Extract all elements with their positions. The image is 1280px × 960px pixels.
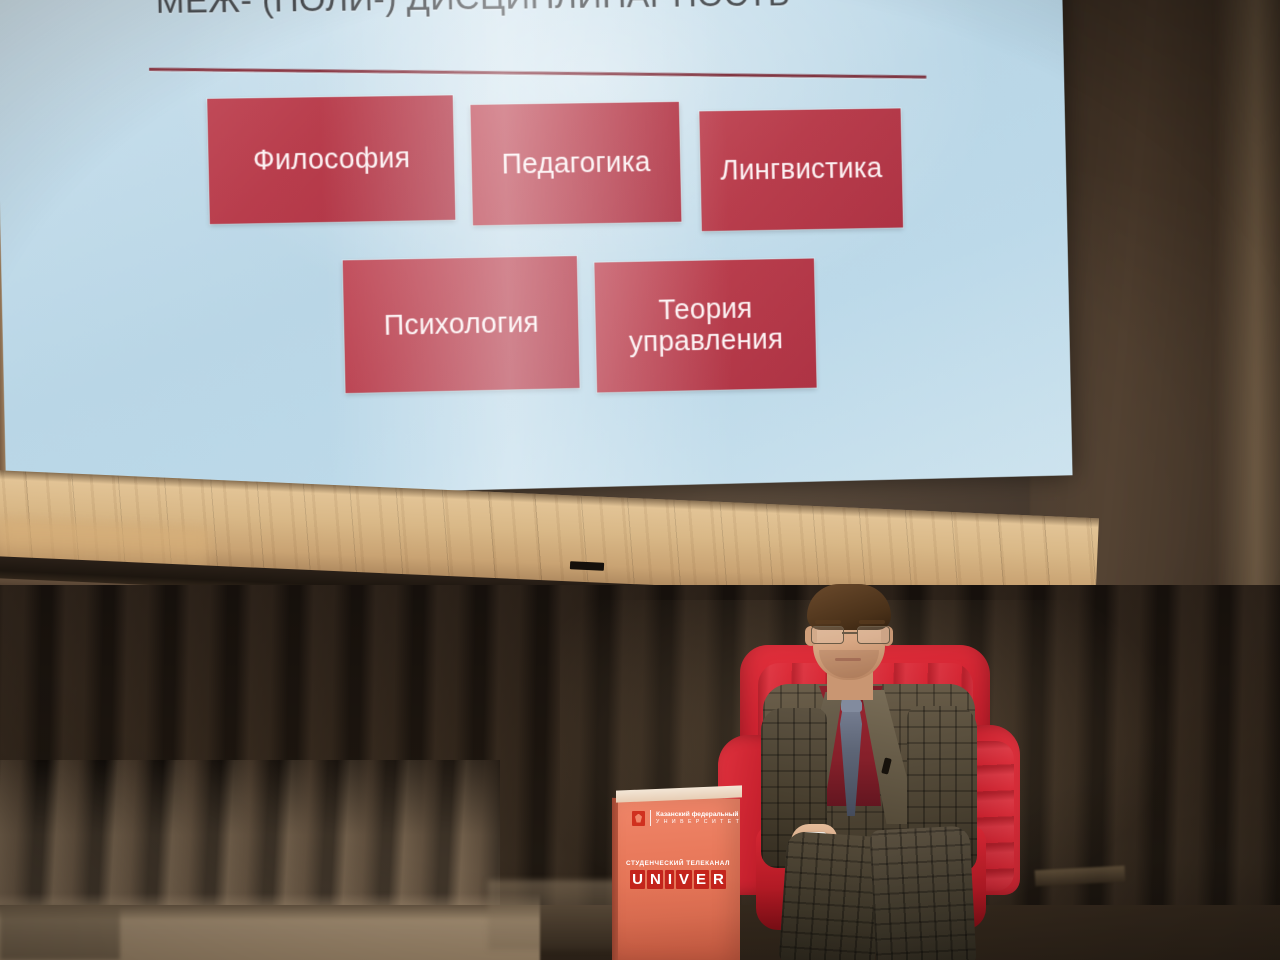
slide-box-linguistics: Лингвистика: [699, 108, 903, 231]
slide-box-psychology: Психология: [343, 256, 580, 393]
kfu-crest-icon: [632, 811, 645, 826]
univer-letter-4: E: [694, 870, 709, 889]
speaker-leg-right-pattern: [869, 825, 976, 960]
univer-tagline: СТУДЕНЧЕСКИЙ ТЕЛЕКАНАЛ: [626, 860, 730, 867]
univer-wordmark: UNIVER: [626, 870, 730, 889]
kfu-logo-text: Казанский федеральный У Н И В Е Р С И Т …: [656, 811, 740, 826]
slide-box-philosophy: Философия: [207, 95, 455, 224]
speaker-leg-right: [869, 825, 976, 960]
univer-letter-2: I: [665, 870, 674, 889]
univer-tv-branding: СТУДЕНЧЕСКИЙ ТЕЛЕКАНАЛ UNIVER: [626, 860, 730, 889]
eyeglass-bridge: [842, 632, 857, 634]
speaker-leg-left-pattern: [779, 831, 884, 960]
speaker-leg-left: [779, 831, 884, 960]
kfu-logo: Казанский федеральный У Н И В Е Р С И Т …: [632, 810, 740, 826]
photo-scene: МЕЖ- (ПОЛИ-) ДИСЦИПЛИНАРНОСТЬ Философия …: [0, 0, 1280, 960]
eyeglasses-icon: [811, 626, 889, 643]
univer-letter-0: U: [630, 870, 646, 889]
slide-box-pedagogy: Педагогика: [470, 102, 681, 226]
speaker-eyebrow-right: [859, 620, 885, 624]
floor-prop-left: [0, 905, 120, 960]
kfu-logo-divider: [650, 810, 651, 826]
univer-letter-3: V: [676, 870, 691, 889]
univer-letter-1: N: [647, 870, 663, 889]
kfu-name-line1: Казанский федеральный: [656, 811, 740, 819]
lectern: Казанский федеральный У Н И В Е Р С И Т …: [612, 788, 744, 960]
seated-speaker: [735, 588, 1005, 960]
eyeglass-lens-right: [857, 626, 890, 644]
univer-letter-5: R: [711, 870, 727, 889]
eyeglass-lens-left: [811, 626, 844, 644]
speaker-eyebrow-left: [815, 620, 841, 624]
ceiling-fixture: [570, 561, 604, 570]
kfu-name-line2: У Н И В Е Р С И Т Е Т: [656, 819, 740, 826]
slide-box-management-theory: Теория управления: [594, 258, 816, 392]
projection-screen: МЕЖ- (ПОЛИ-) ДИСЦИПЛИНАРНОСТЬ Философия …: [0, 0, 1073, 502]
speaker-mouth: [835, 658, 861, 661]
